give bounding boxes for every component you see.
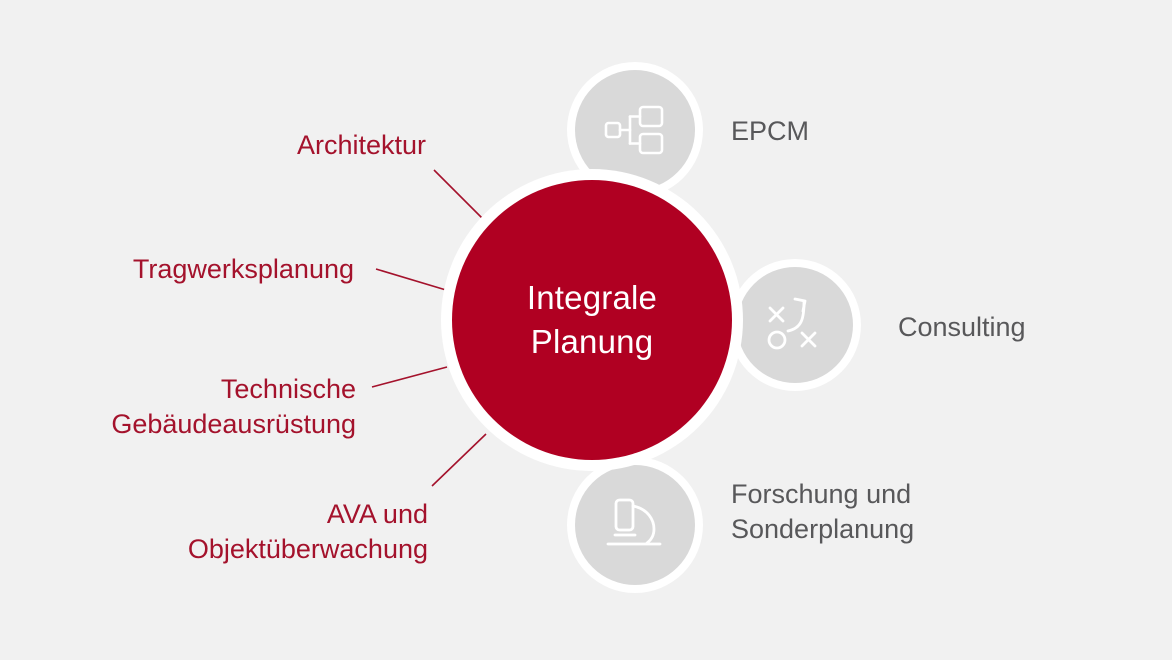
hub-circle-integrale-planung[interactable]: Integrale Planung bbox=[452, 180, 732, 460]
satellite-label-epcm: EPCM bbox=[731, 114, 809, 149]
strategy-playbook-icon bbox=[764, 296, 826, 354]
satellite-label-consulting: Consulting bbox=[898, 310, 1026, 345]
spoke-label-architektur: Architektur bbox=[297, 128, 426, 163]
spoke-label-ava-und-objektueberwachung: AVA und Objektüberwachung bbox=[188, 497, 428, 567]
microscope-icon bbox=[604, 497, 666, 553]
satellite-circle-consulting[interactable] bbox=[737, 267, 853, 383]
org-chart-icon bbox=[604, 105, 666, 155]
satellite-label-research: Forschung und Sonderplanung bbox=[731, 477, 914, 547]
integrale-planung-diagram: EPCM Consulting bbox=[0, 0, 1172, 660]
spoke-label-tragwerksplanung: Tragwerksplanung bbox=[133, 252, 354, 287]
satellite-circle-research[interactable] bbox=[575, 465, 695, 585]
hub-label: Integrale Planung bbox=[527, 276, 657, 364]
spoke-label-technische-gebaeudeausruestung: Technische Gebäudeausrüstung bbox=[111, 372, 356, 442]
